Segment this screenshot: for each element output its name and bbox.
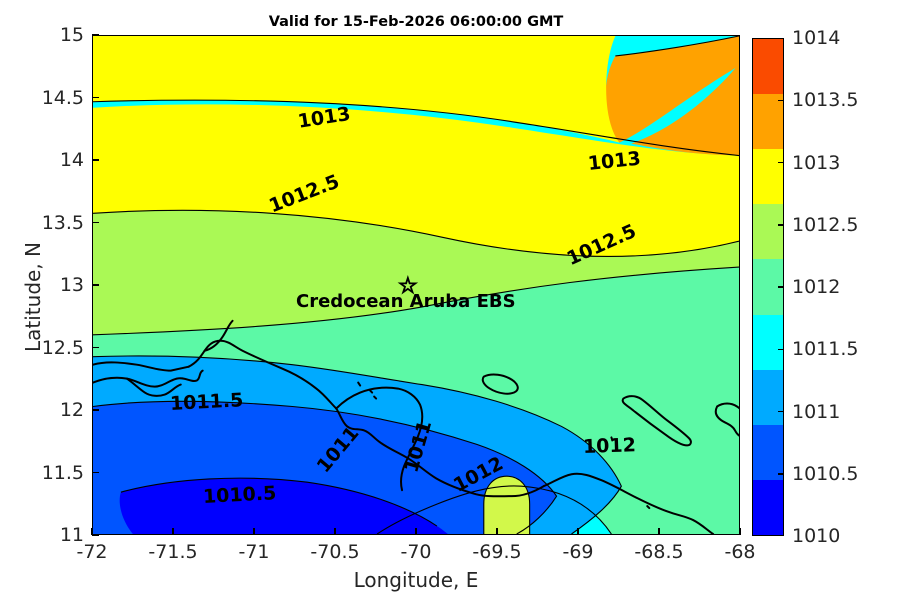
x-tick-label: -72 bbox=[76, 541, 107, 563]
colorbar-band bbox=[753, 94, 783, 149]
colorbar-tick-label: 1013 bbox=[792, 152, 840, 174]
colorbar-tick-label: 1012 bbox=[792, 276, 840, 298]
x-axis-title: Longitude, E bbox=[92, 568, 740, 592]
x-tick-label: -68 bbox=[724, 541, 755, 563]
colorbar-tick-label: 1012.5 bbox=[792, 214, 858, 236]
colorbar[interactable] bbox=[752, 38, 784, 536]
colorbar-band bbox=[753, 425, 783, 480]
x-tick-label: -70 bbox=[400, 541, 431, 563]
contour-label: 1011.5 bbox=[169, 389, 243, 415]
y-tick-label: 11.5 bbox=[42, 462, 84, 484]
colorbar-tick-label: 1014 bbox=[792, 27, 840, 49]
colorbar-tick-label: 1011 bbox=[792, 401, 840, 423]
y-tick-label: 14.5 bbox=[42, 87, 84, 109]
colorbar-band bbox=[753, 204, 783, 259]
colorbar-tick-label: 1013.5 bbox=[792, 89, 858, 111]
colorbar-band bbox=[753, 149, 783, 204]
contour-map-axes[interactable]: 101310131012.51012.51011.51010.510111011… bbox=[92, 35, 740, 535]
x-tick-label: -69.5 bbox=[472, 541, 521, 563]
y-tick-label: 14 bbox=[60, 149, 84, 171]
colorbar-band bbox=[753, 39, 783, 94]
x-tick-label: -70.5 bbox=[310, 541, 359, 563]
page-title: Valid for 15-Feb-2026 06:00:00 GMT bbox=[92, 14, 740, 30]
figure-canvas: Valid for 15-Feb-2026 06:00:00 GMT bbox=[0, 0, 900, 600]
colorbar-tick-label: 1010.5 bbox=[792, 463, 858, 485]
colorbar-band bbox=[753, 315, 783, 370]
y-tick-label: 12 bbox=[60, 399, 84, 421]
x-tick-label: -69 bbox=[562, 541, 593, 563]
y-tick-label: 15 bbox=[60, 24, 84, 46]
station-name-label: Credocean Aruba EBS bbox=[296, 291, 516, 312]
y-tick-label: 13.5 bbox=[42, 212, 84, 234]
colorbar-tick-label: 1011.5 bbox=[792, 338, 858, 360]
colorbar-band bbox=[753, 259, 783, 314]
colorbar-tick-label: 1010 bbox=[792, 525, 840, 547]
y-axis-title: Latitude, N bbox=[21, 242, 45, 352]
colorbar-band bbox=[753, 480, 783, 535]
colorbar-band bbox=[753, 370, 783, 425]
y-tick-label: 12.5 bbox=[42, 337, 84, 359]
x-tick-label: -71 bbox=[238, 541, 269, 563]
contour-label: 1010.5 bbox=[202, 482, 276, 508]
contour-label: 1012 bbox=[583, 434, 637, 458]
y-tick-label: 13 bbox=[60, 274, 84, 296]
x-tick-label: -68.5 bbox=[634, 541, 683, 563]
y-tick-label: 11 bbox=[60, 524, 84, 546]
x-tick-label: -71.5 bbox=[148, 541, 197, 563]
